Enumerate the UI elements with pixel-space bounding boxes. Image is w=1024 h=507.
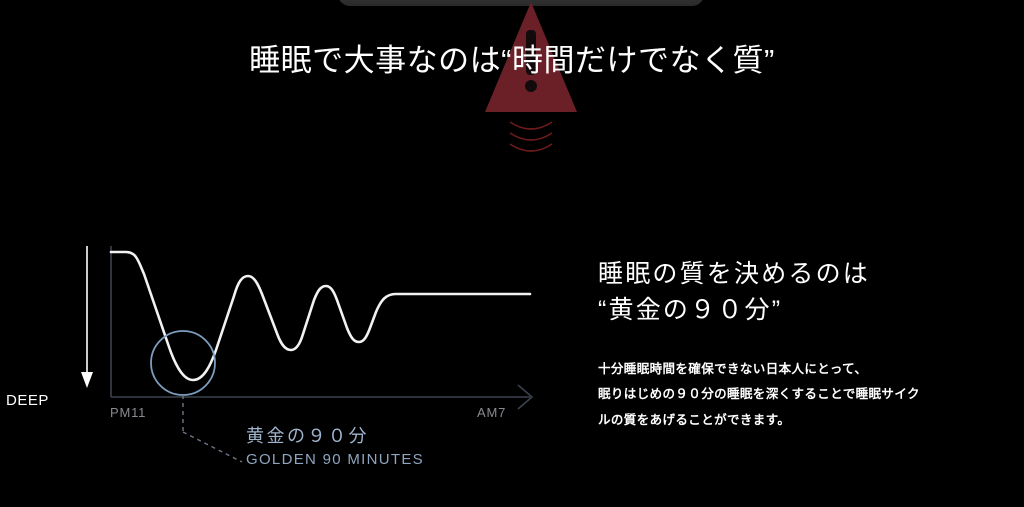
right-body-line2: 眠りはじめの９０分の睡眠を深くすることで睡眠サイク xyxy=(598,382,998,408)
x-axis-start-label: PM11 xyxy=(110,405,146,420)
right-body: 十分睡眠時間を確保できない日本人にとって、 眠りはじめの９０分の睡眠を深くするこ… xyxy=(598,357,998,434)
headline: 睡眠で大事なのは“時間だけでなく質” xyxy=(0,40,1024,82)
right-column: 睡眠の質を決めるのは “黄金の９０分” 十分睡眠時間を確保できない日本人にとって… xyxy=(598,256,998,433)
sleep-depth-line xyxy=(111,252,530,380)
callout-leader-line xyxy=(183,395,242,462)
golden-90-callout: 黄金の９０分 GOLDEN 90 MINUTES xyxy=(246,425,424,468)
callout-label-jp: 黄金の９０分 xyxy=(246,425,424,448)
y-axis-deep-label: DEEP xyxy=(6,392,49,409)
right-body-line3: ルの質をあげることができます。 xyxy=(598,408,998,434)
deep-axis-arrow xyxy=(81,246,93,388)
callout-label-en: GOLDEN 90 MINUTES xyxy=(246,451,424,468)
right-title-line2: “黄金の９０分” xyxy=(598,292,998,328)
slide-root: 睡眠で大事なのは“時間だけでなく質” DEEP PM11 xyxy=(0,0,1024,507)
right-title-line1: 睡眠の質を決めるのは xyxy=(598,256,998,292)
x-axis-end-label: AM7 xyxy=(477,405,506,420)
right-body-line1: 十分睡眠時間を確保できない日本人にとって、 xyxy=(598,357,998,383)
golden-90-highlight-circle xyxy=(151,331,215,395)
right-title: 睡眠の質を決めるのは “黄金の９０分” xyxy=(598,256,998,329)
